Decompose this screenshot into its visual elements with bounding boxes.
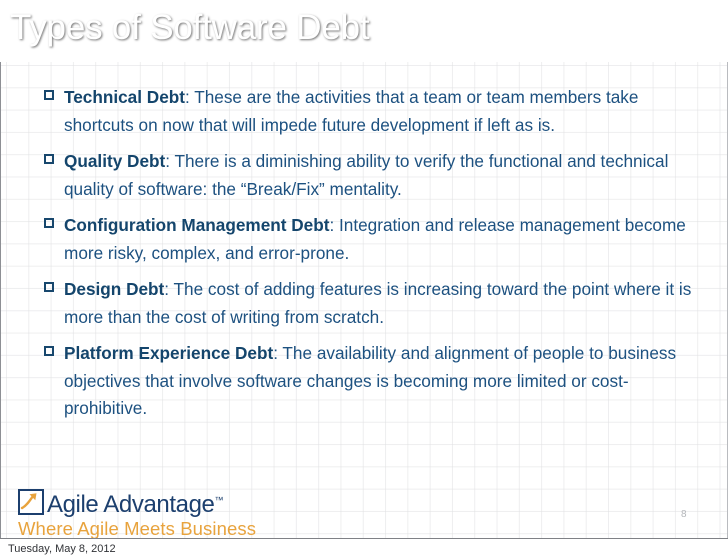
bullet-term: Technical Debt — [64, 87, 185, 107]
bullet-list: Technical Debt: These are the activities… — [0, 62, 728, 472]
list-item: Platform Experience Debt: The availabili… — [44, 340, 698, 423]
footer-date: Tuesday, May 8, 2012 — [8, 542, 116, 556]
list-item: Quality Debt: There is a diminishing abi… — [44, 148, 698, 203]
page-title: Types of Software Debt — [10, 4, 369, 52]
logo-wordmark: Agile Advantage™ — [47, 487, 223, 518]
trademark-symbol: ™ — [214, 495, 223, 505]
hollow-square-bullet-icon — [44, 218, 54, 228]
hollow-square-bullet-icon — [44, 346, 54, 356]
bullet-term: Configuration Management Debt — [64, 215, 329, 235]
chart-arrow-square-icon — [18, 489, 44, 515]
logo-row: Agile Advantage™ — [18, 487, 248, 517]
list-item: Design Debt: The cost of adding features… — [44, 276, 698, 331]
list-item: Technical Debt: These are the activities… — [44, 84, 698, 139]
brand-logo: Agile Advantage™ Where Agile Meets Busin… — [18, 487, 248, 539]
hollow-square-bullet-icon — [44, 90, 54, 100]
slide-canvas: Types of Software Debt Technical Debt: T… — [0, 0, 728, 560]
footer-divider — [0, 538, 728, 539]
list-item: Configuration Management Debt: Integrati… — [44, 212, 698, 267]
hollow-square-bullet-icon — [44, 282, 54, 292]
bullet-term: Platform Experience Debt — [64, 343, 273, 363]
hollow-square-bullet-icon — [44, 154, 54, 164]
slide-title-bar: Types of Software Debt — [0, 0, 728, 62]
bullet-term: Quality Debt — [64, 151, 165, 171]
logo-wordmark-text: Agile Advantage — [47, 491, 214, 518]
page-number: 8 — [681, 509, 687, 521]
logo-tagline: Where Agile Meets Business — [18, 518, 248, 539]
bullet-term: Design Debt — [64, 279, 164, 299]
